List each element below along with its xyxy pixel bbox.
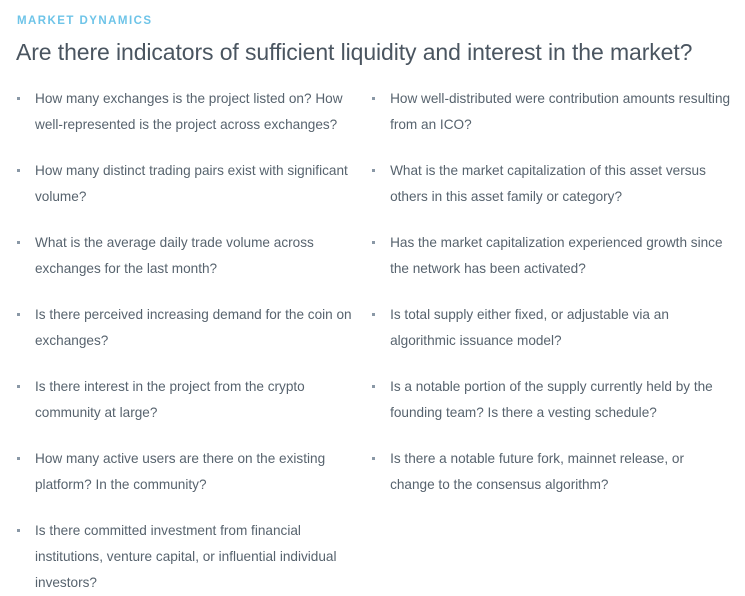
question-text: Is there interest in the project from th… bbox=[35, 374, 369, 426]
bullet-dot-icon bbox=[372, 457, 375, 460]
list-item: How many active users are there on the e… bbox=[16, 446, 369, 498]
list-item: Is a notable portion of the supply curre… bbox=[371, 374, 731, 426]
right-question-list: How well-distributed were contribution a… bbox=[371, 86, 731, 498]
list-item: What is the average daily trade volume a… bbox=[16, 230, 369, 282]
bullet-dot-icon bbox=[372, 313, 375, 316]
page-title: Are there indicators of sufficient liqui… bbox=[16, 37, 731, 67]
list-item: Is there interest in the project from th… bbox=[16, 374, 369, 426]
market-dynamics-section: MARKET DYNAMICS Are there indicators of … bbox=[0, 0, 745, 482]
section-eyebrow-label: MARKET DYNAMICS bbox=[17, 14, 731, 28]
question-text: Is total supply either fixed, or adjusta… bbox=[390, 302, 731, 354]
list-item: What is the market capitalization of thi… bbox=[371, 158, 731, 210]
bullet-dot-icon bbox=[17, 97, 20, 100]
bullet-dot-icon bbox=[372, 97, 375, 100]
question-text: What is the market capitalization of thi… bbox=[390, 158, 731, 210]
list-item: Is there a notable future fork, mainnet … bbox=[371, 446, 731, 498]
bullet-dot-icon bbox=[17, 385, 20, 388]
list-item: How well-distributed were contribution a… bbox=[371, 86, 731, 138]
bullet-dot-icon bbox=[17, 529, 20, 532]
left-question-list: How many exchanges is the project listed… bbox=[16, 86, 369, 596]
question-text: How well-distributed were contribution a… bbox=[390, 86, 731, 138]
list-item: Has the market capitalization experience… bbox=[371, 230, 731, 282]
question-text: Is there perceived increasing demand for… bbox=[35, 302, 369, 354]
list-item: How many exchanges is the project listed… bbox=[16, 86, 369, 138]
question-text: Is there committed investment from finan… bbox=[35, 518, 369, 596]
bullet-dot-icon bbox=[372, 385, 375, 388]
list-item: Is there committed investment from finan… bbox=[16, 518, 369, 596]
bullet-dot-icon bbox=[17, 457, 20, 460]
right-question-column: How well-distributed were contribution a… bbox=[369, 86, 731, 596]
question-text: What is the average daily trade volume a… bbox=[35, 230, 369, 282]
two-column-layout: How many exchanges is the project listed… bbox=[14, 86, 731, 596]
question-text: Has the market capitalization experience… bbox=[390, 230, 731, 282]
bullet-dot-icon bbox=[372, 241, 375, 244]
bullet-dot-icon bbox=[17, 313, 20, 316]
list-item: Is total supply either fixed, or adjusta… bbox=[371, 302, 731, 354]
list-item: How many distinct trading pairs exist wi… bbox=[16, 158, 369, 210]
question-text: Is there a notable future fork, mainnet … bbox=[390, 446, 731, 498]
question-text: Is a notable portion of the supply curre… bbox=[390, 374, 731, 426]
question-text: How many exchanges is the project listed… bbox=[35, 86, 369, 138]
bullet-dot-icon bbox=[17, 241, 20, 244]
question-text: How many distinct trading pairs exist wi… bbox=[35, 158, 369, 210]
bullet-dot-icon bbox=[372, 169, 375, 172]
bullet-dot-icon bbox=[17, 169, 20, 172]
question-text: How many active users are there on the e… bbox=[35, 446, 369, 498]
list-item: Is there perceived increasing demand for… bbox=[16, 302, 369, 354]
left-question-column: How many exchanges is the project listed… bbox=[14, 86, 369, 596]
